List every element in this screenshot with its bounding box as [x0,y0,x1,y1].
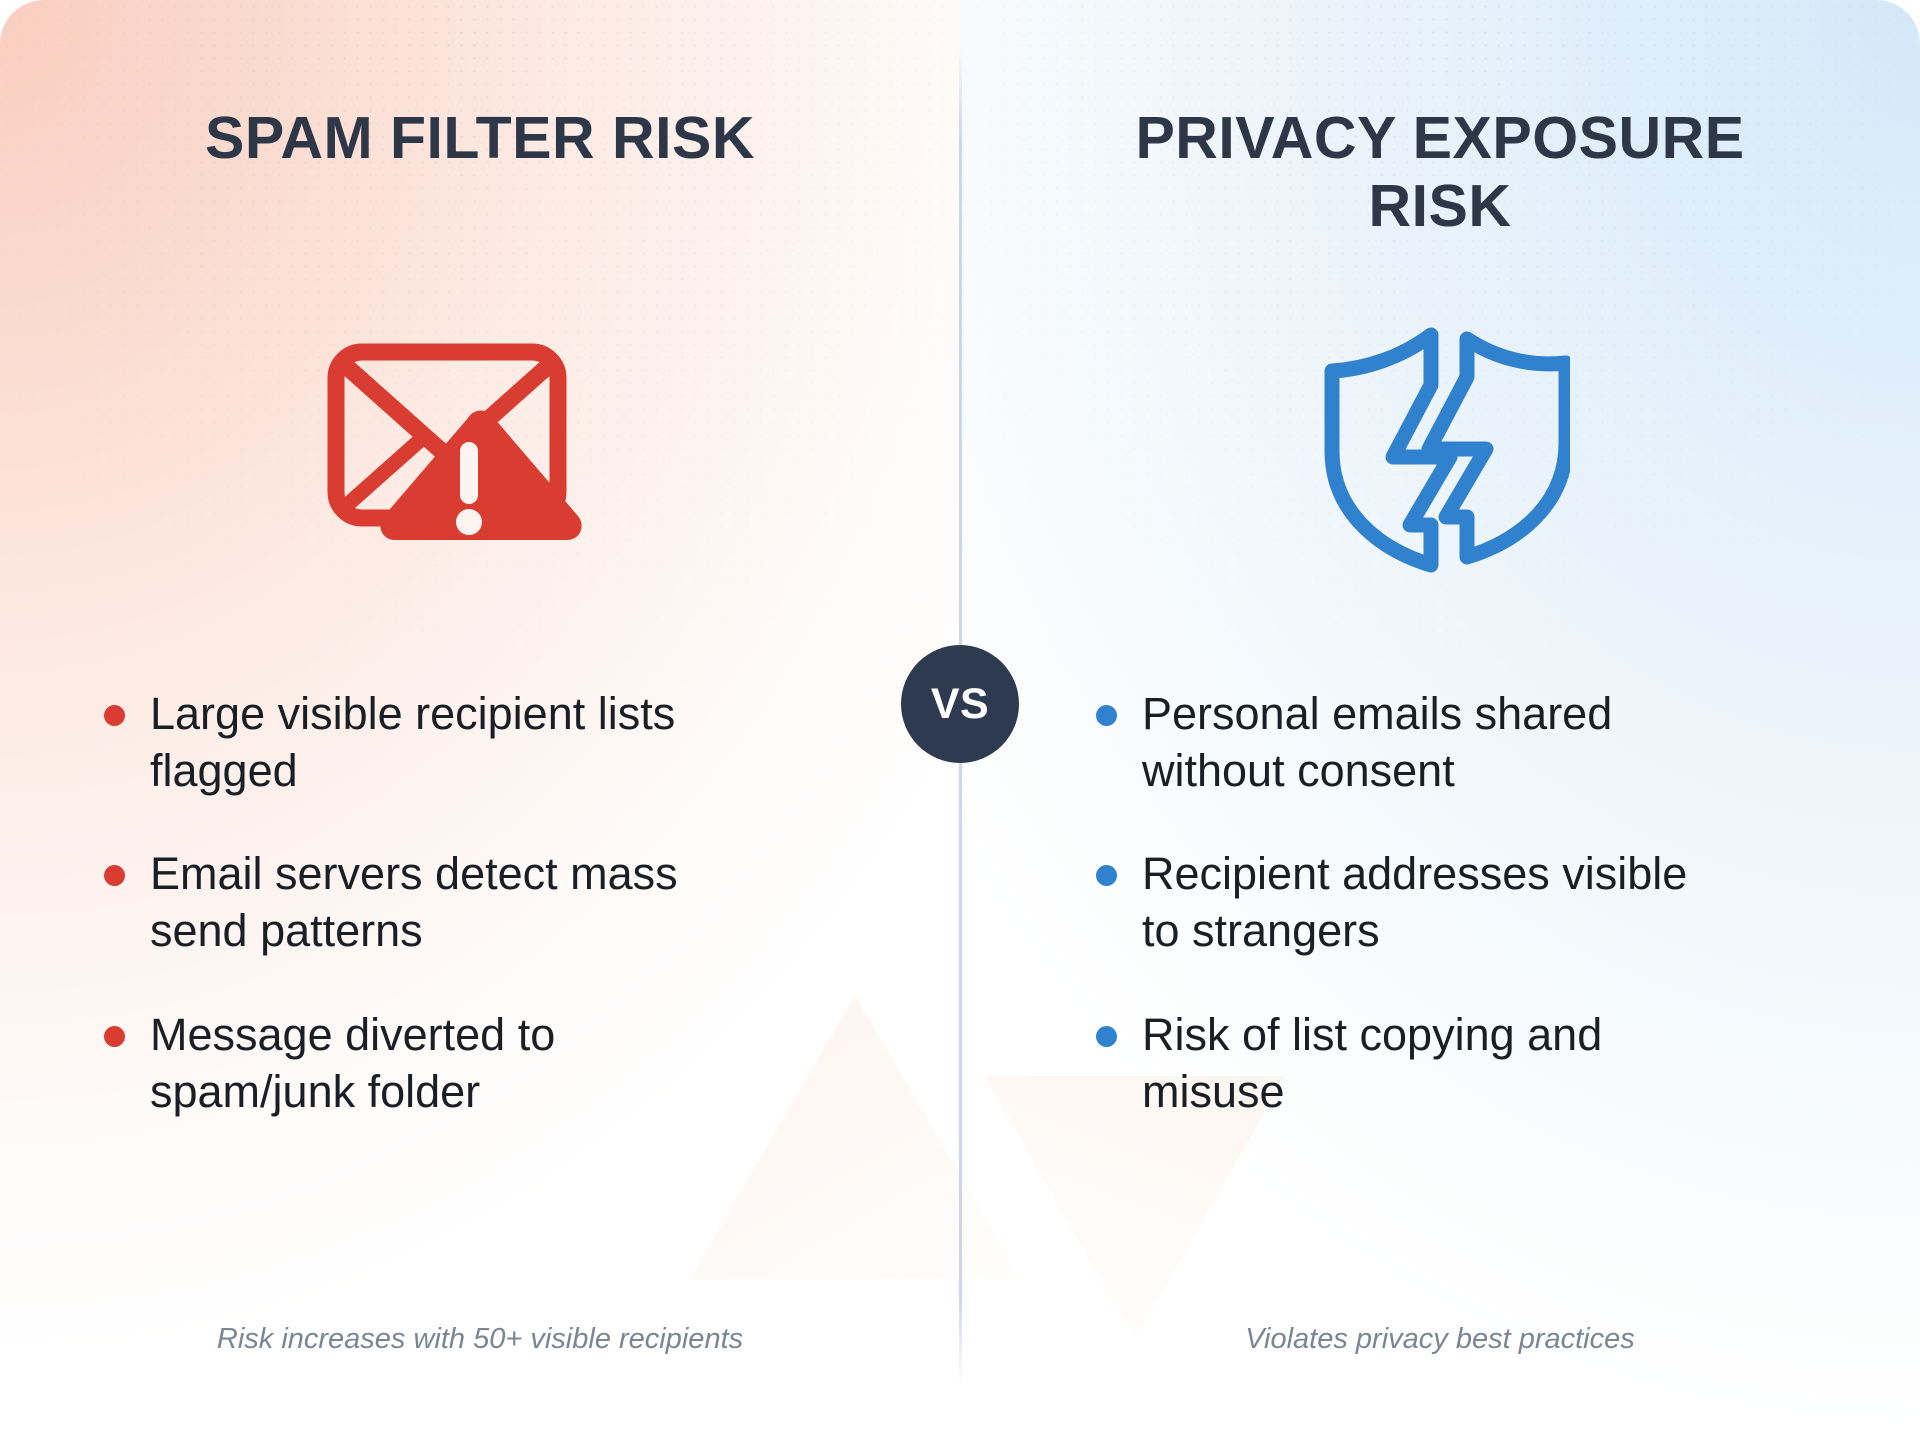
bullet-text: Risk of list copying and misuse [1142,1006,1702,1120]
bullet-dot-icon [104,1026,125,1047]
cracked-shield-icon [1310,325,1570,575]
bullet-dot-icon [1096,705,1117,726]
bullet-dot-icon [104,705,125,726]
right-bullet-list: Personal emails shared without consent R… [1096,685,1880,1120]
envelope-warning-icon [320,330,640,570]
bullet-dot-icon [1096,865,1117,886]
left-column: SPAM FILTER RISK [0,0,960,1434]
bullet-text: Recipient addresses visible to strangers [1142,845,1702,959]
left-bullet-list: Large visible recipient lists flagged Em… [104,685,900,1120]
list-item: Large visible recipient lists flagged [104,685,900,799]
right-column: PRIVACY EXPOSURE RISK Personal emails sh… [960,0,1920,1434]
left-footnote: Risk increases with 50+ visible recipien… [0,1323,960,1356]
list-item: Recipient addresses visible to strangers [1096,845,1880,959]
bullet-text: Personal emails shared without consent [1142,685,1702,799]
right-panel-title: PRIVACY EXPOSURE RISK [960,104,1920,241]
list-item: Risk of list copying and misuse [1096,1006,1880,1120]
list-item: Personal emails shared without consent [1096,685,1880,799]
comparison-infographic: SPAM FILTER RISK [0,0,1920,1434]
vs-badge: VS [901,645,1019,763]
right-footnote: Violates privacy best practices [960,1323,1920,1356]
bullet-text: Large visible recipient lists flagged [150,685,710,799]
vs-badge-label: VS [931,680,989,729]
left-icon-container [0,330,960,570]
bullet-text: Message diverted to spam/junk folder [150,1006,710,1120]
list-item: Email servers detect mass send patterns [104,845,900,959]
left-panel-title: SPAM FILTER RISK [0,104,960,172]
bullet-dot-icon [1096,1026,1117,1047]
list-item: Message diverted to spam/junk folder [104,1006,900,1120]
bullet-dot-icon [104,865,125,886]
right-icon-container [960,325,1920,575]
bullet-text: Email servers detect mass send patterns [150,845,710,959]
